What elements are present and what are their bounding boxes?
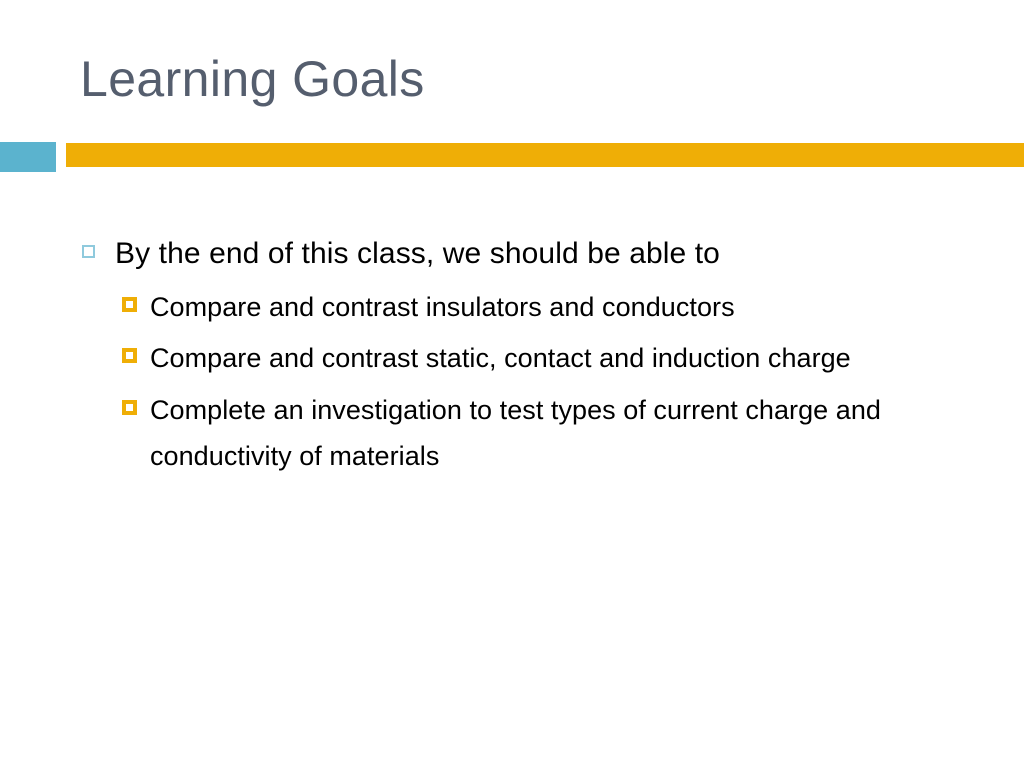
list-item-label: Compare and contrast insulators and cond…	[150, 284, 884, 330]
page-title: Learning Goals	[80, 51, 980, 107]
list-item-label: Complete an investigation to test types …	[150, 387, 884, 480]
list-item: Compare and contrast insulators and cond…	[0, 284, 1024, 330]
slide: Learning Goals By the end of this class,…	[0, 0, 1024, 768]
title-divider	[0, 142, 1024, 172]
hollow-square-bullet-icon	[122, 297, 137, 312]
list-item-level1: By the end of this class, we should be a…	[0, 232, 1024, 276]
divider-accent-square	[0, 142, 56, 172]
hollow-square-bullet-icon	[122, 400, 137, 415]
hollow-square-bullet-icon	[82, 245, 95, 258]
list-item: Complete an investigation to test types …	[0, 387, 1024, 480]
list-item-label: Compare and contrast static, contact and…	[150, 335, 884, 381]
content-body: By the end of this class, we should be a…	[0, 232, 1024, 485]
list-item-level1-label: By the end of this class, we should be a…	[115, 232, 1024, 276]
divider-accent-bar	[66, 143, 1024, 167]
list-item: Compare and contrast static, contact and…	[0, 335, 1024, 381]
sub-list: Compare and contrast insulators and cond…	[0, 284, 1024, 480]
hollow-square-bullet-icon	[122, 348, 137, 363]
